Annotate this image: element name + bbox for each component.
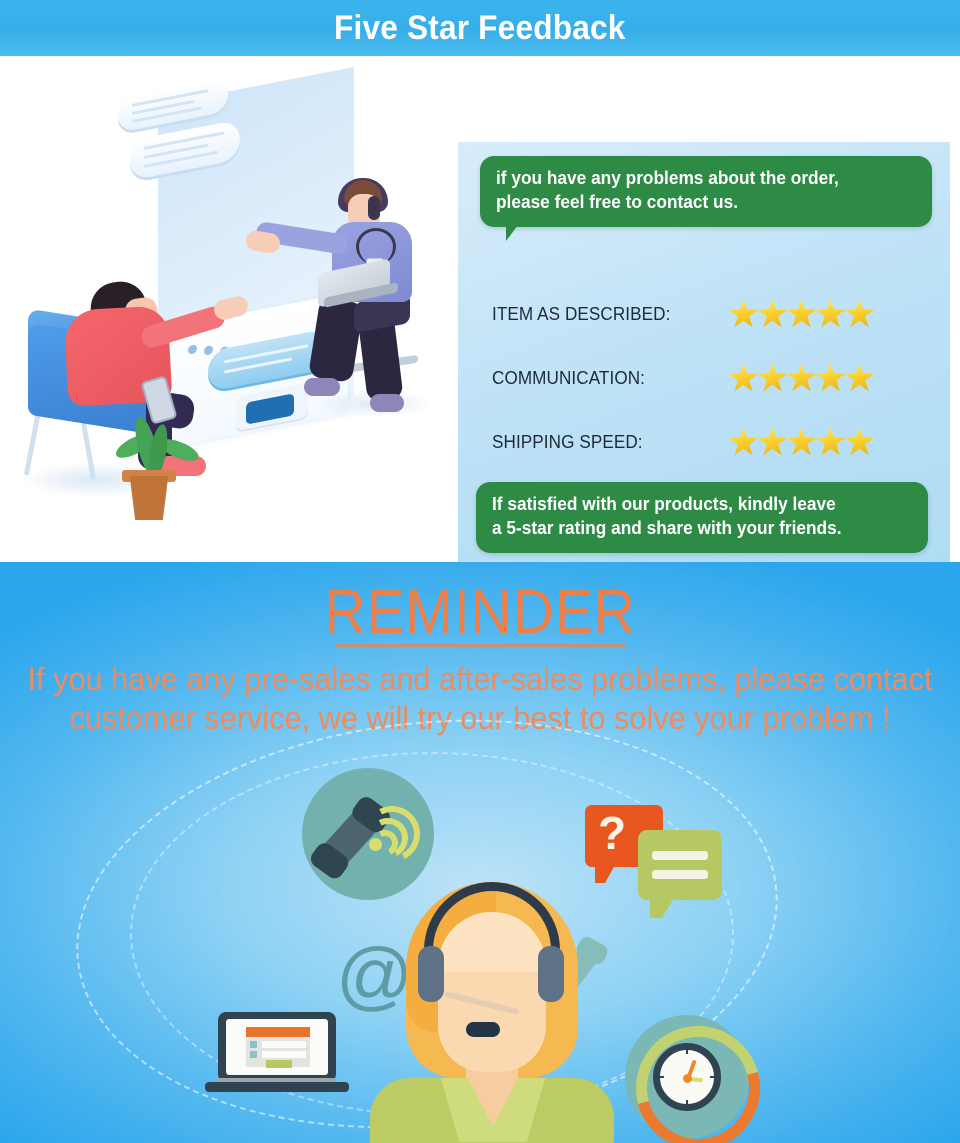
laptop-form-header	[246, 1027, 310, 1037]
star-icon	[757, 427, 788, 458]
contact-us-line-2: please feel free to contact us.	[496, 191, 899, 215]
message-speech-bubble-icon	[638, 830, 722, 900]
leave-rating-line-2: a 5-star rating and share with your frie…	[492, 517, 895, 541]
leave-rating-line-1: If satisfied with our products, kindly l…	[492, 493, 895, 517]
star-icon	[757, 363, 788, 394]
message-line	[652, 870, 708, 879]
star-icon	[844, 427, 875, 458]
ratings-list: ITEM AS DESCRIBED: COMMUNICATION:	[492, 282, 922, 474]
star-icon	[844, 299, 875, 330]
star-icon	[786, 363, 817, 394]
star-icon	[815, 427, 846, 458]
star-rating	[728, 427, 873, 458]
laptop-form-checkbox	[250, 1051, 257, 1058]
rating-label: COMMUNICATION:	[492, 368, 709, 389]
star-icon	[728, 299, 759, 330]
reminder-title: REMINDER	[38, 577, 921, 648]
star-icon	[757, 299, 788, 330]
star-icon	[815, 299, 846, 330]
laptop-form-input	[262, 1041, 306, 1048]
star-icon	[728, 363, 759, 394]
clock-tick	[710, 1076, 716, 1078]
question-mark-glyph: ?	[598, 806, 626, 860]
leave-rating-bubble: If satisfied with our products, kindly l…	[476, 482, 928, 553]
star-icon	[728, 427, 759, 458]
star-icon	[786, 299, 817, 330]
clock-tick	[686, 1048, 688, 1054]
star-rating	[728, 299, 873, 330]
rating-label: SHIPPING SPEED:	[492, 432, 709, 453]
at-symbol-icon: @	[336, 938, 413, 1014]
laptop-form-checkbox	[250, 1041, 257, 1048]
star-icon	[786, 427, 817, 458]
contact-us-line-1: if you have any problems about the order…	[496, 167, 899, 191]
headset-earcup-icon	[418, 946, 444, 1002]
feedback-infographic: Five Star Feedback	[0, 0, 960, 1143]
rating-row-communication: COMMUNICATION:	[492, 346, 922, 410]
clock-tick	[686, 1100, 688, 1106]
reminder-title-underline	[335, 644, 625, 647]
star-icon	[844, 363, 875, 394]
feedback-panel: if you have any problems about the order…	[458, 142, 950, 582]
plant-pot	[126, 476, 172, 520]
laptop-form-button	[266, 1060, 292, 1068]
headset-earcup-icon	[538, 946, 564, 1002]
rating-row-item-as-described: ITEM AS DESCRIBED:	[492, 282, 922, 346]
headset-microphone-icon	[466, 1022, 500, 1037]
agent-shoe	[370, 394, 404, 412]
rating-row-shipping-speed: SHIPPING SPEED:	[492, 410, 922, 474]
star-rating	[728, 363, 873, 394]
star-icon	[815, 363, 846, 394]
clock-tick	[658, 1076, 664, 1078]
laptop-form-input	[262, 1051, 306, 1058]
message-line	[652, 851, 708, 860]
reminder-line-1: If you have any pre-sales and after-sale…	[19, 660, 941, 699]
laptop-base	[205, 1082, 349, 1092]
chair-leg	[24, 410, 42, 476]
agent-headset-icon	[368, 196, 380, 220]
top-section: if you have any problems about the order…	[0, 56, 960, 562]
agent-shoe	[304, 378, 340, 396]
header-bar: Five Star Feedback	[0, 0, 960, 56]
page-title: Five Star Feedback	[334, 9, 626, 48]
contact-us-bubble: if you have any problems about the order…	[480, 156, 932, 227]
clock-center-pin	[683, 1074, 692, 1083]
rating-label: ITEM AS DESCRIBED:	[492, 304, 709, 325]
customer-support-illustration	[18, 60, 458, 560]
signal-origin-dot	[369, 838, 382, 851]
